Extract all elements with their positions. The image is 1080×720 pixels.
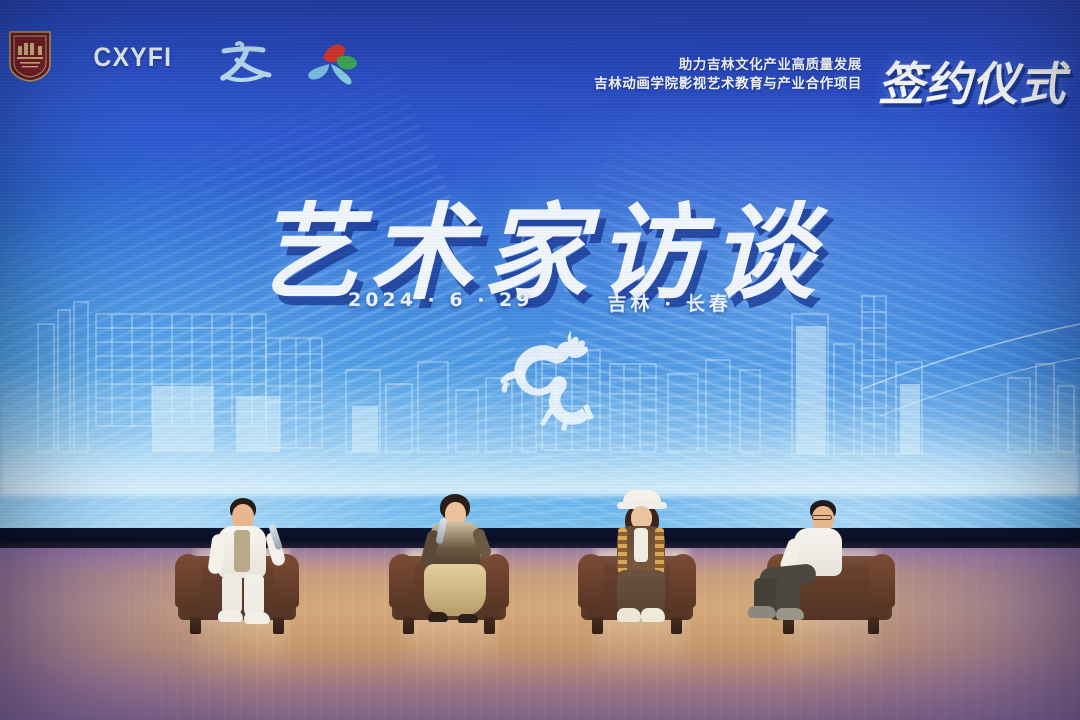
header-subtitle-lines: 助力吉林文化产业高质量发展 吉林动画学院影视艺术教育与产业合作项目 [594, 56, 862, 93]
event-location: 吉林 · 长春 [607, 289, 731, 316]
panelist-1 [178, 514, 296, 634]
chair-leg [403, 617, 414, 634]
shoe-right [641, 608, 665, 622]
shoe-left [617, 608, 641, 622]
inner-shirt [234, 530, 250, 572]
panelist-3 [581, 514, 693, 634]
shoe-right [776, 608, 804, 620]
person-figure [204, 504, 284, 622]
header-line-1: 助力吉林文化产业高质量发展 [594, 56, 862, 75]
inner-top [634, 528, 648, 562]
colored-bird-logo [303, 40, 361, 88]
leg-left [222, 574, 242, 614]
led-backdrop-screen: CXYFI 助力吉林文化产业高质量发展 吉林动画学院影视艺术教育与产业合作 [0, 0, 1080, 536]
shoe-left [428, 612, 448, 622]
wen-calligraphy-logo [213, 38, 275, 86]
glasses-icon [812, 515, 832, 520]
panelist-4 [770, 514, 892, 634]
stage-scene: CXYFI 助力吉林文化产业高质量发展 吉林动画学院影视艺术教育与产业合作 [0, 0, 1080, 720]
chair-leg [592, 617, 603, 634]
chair-leg [868, 617, 879, 634]
leg-right [244, 574, 264, 616]
screen-header: CXYFI 助力吉林文化产业高质量发展 吉林动画学院影视艺术教育与产业合作 [0, 26, 1080, 92]
panelist-2 [392, 514, 506, 634]
cxyfi-brand-text: CXYFI [93, 42, 172, 73]
event-date: 2024 · 6 · 29 [348, 289, 533, 316]
screen-bottom-edge [0, 528, 1080, 550]
chair-arm-left [175, 554, 201, 608]
shoe-left [748, 606, 776, 618]
ceremony-title: 签约仪式 [878, 48, 1066, 114]
university-crest-logo [8, 30, 52, 82]
shoe-left [218, 610, 243, 622]
chair-arm-right [869, 554, 895, 608]
shoe-right [458, 614, 478, 623]
shoe-right [244, 612, 270, 624]
chair-leg [190, 617, 201, 634]
coat-trim-right [655, 528, 664, 574]
person-figure [603, 500, 679, 622]
person-figure [416, 502, 494, 622]
chair-arm-left [578, 554, 604, 608]
wooden-stage-floor [0, 548, 1080, 720]
chair-arm-left [389, 554, 415, 608]
screen-haze [0, 366, 1080, 496]
header-line-2: 吉林动画学院影视艺术教育与产业合作项目 [594, 75, 862, 94]
person-figure [750, 504, 854, 622]
gown-skirt [424, 564, 486, 616]
coat-trim-left [618, 528, 627, 574]
subtitle-row: 2024 · 6 · 29 吉林 · 长春 [0, 289, 1080, 316]
